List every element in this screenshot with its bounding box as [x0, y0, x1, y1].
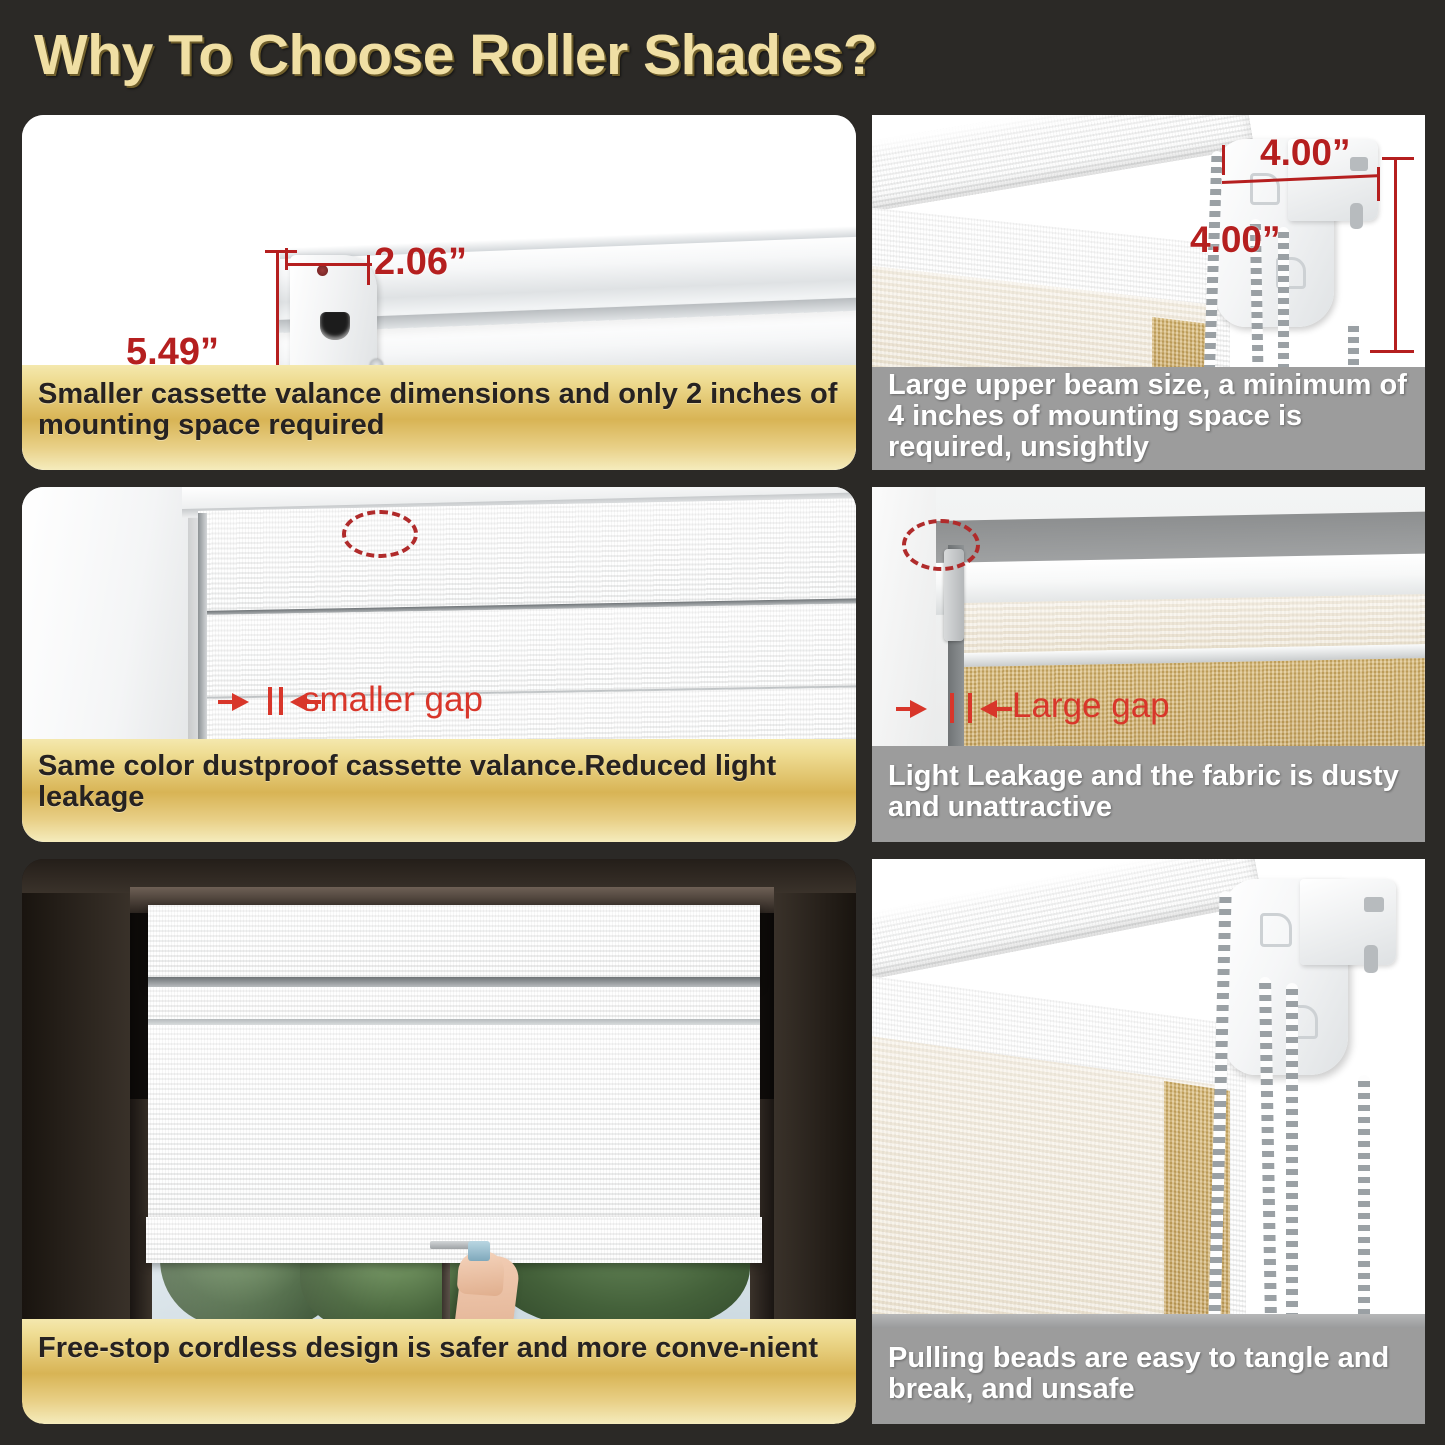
panel-good-cassette-size: 2.06” 5.49” Smaller cassette valance dim… — [22, 115, 856, 470]
fabric-roll-tube — [872, 115, 1254, 212]
width-dim-line — [285, 263, 372, 266]
caption-bad-light-leakage: Light Leakage and the fabric is dusty an… — [872, 746, 1425, 842]
beam-width-tick-left — [1222, 145, 1225, 175]
gap-label-smaller: smaller gap — [302, 680, 483, 720]
shade-left-edge-rail — [198, 513, 207, 759]
panel-bad-pulling-beads: Pulling beads are easy to tangle and bre… — [872, 859, 1425, 1424]
bracket-notch-1-icon — [1350, 157, 1368, 171]
gap-arrow-left-stem — [896, 707, 912, 711]
gap-highlight-ellipse — [902, 519, 980, 571]
wall-left — [22, 859, 134, 1324]
gap-measure-bar-right — [279, 687, 283, 715]
caption-bad-beam-size: Large upper beam size, a minimum of 4 in… — [872, 367, 1425, 470]
beam-height-line — [1394, 157, 1397, 353]
bracket-notch-1-icon — [1364, 897, 1384, 912]
height-dim-tick-top — [265, 250, 297, 253]
beam-width-label: 4.00” — [1260, 132, 1351, 174]
caption-good-dustproof-valance: Same color dustproof cassette valance.Re… — [22, 739, 856, 842]
clutch-bracket-arm — [1300, 879, 1396, 965]
caption-good-cordless-design: Free-stop cordless design is safer and m… — [22, 1319, 856, 1424]
shade-fabric — [148, 1025, 760, 1223]
panel-good-cordless-design: Free-stop cordless design is safer and m… — [22, 859, 856, 1424]
gap-label-large: Large gap — [1012, 686, 1170, 726]
gap-highlight-ellipse-inner — [342, 510, 418, 558]
gap-arrow-left-icon — [910, 700, 927, 718]
cassette-valance-head — [148, 905, 760, 985]
bracket-notch-2-icon — [1350, 203, 1363, 229]
gap-measure-bar-right — [968, 693, 972, 723]
bracket-logo-upper-icon — [1260, 913, 1292, 947]
gap-arrow-left-stem — [218, 700, 234, 704]
shade-bottom-rail — [146, 1217, 762, 1263]
beam-height-tick-bottom — [1370, 350, 1414, 353]
bracket-notch-2-icon — [1364, 945, 1378, 973]
panel-bad-light-leakage: Large gap Light Leakage and the fabric i… — [872, 487, 1425, 842]
panel-good-dustproof-valance: smaller gap Same color dustproof cassett… — [22, 487, 856, 842]
infographic-page: Why To Choose Roller Shades? 2.06” 5.49 — [0, 0, 1445, 1445]
bead-chain-mid-2 — [1286, 983, 1298, 1325]
grip-clip-icon — [468, 1241, 490, 1261]
beam-width-tick-right — [1377, 167, 1380, 201]
beam-height-tick-top — [1382, 157, 1414, 160]
floor-strip — [872, 1314, 1425, 1328]
width-dim-label: 2.06” — [374, 241, 467, 284]
gap-arrow-right-stem — [996, 707, 1012, 711]
gap-arrow-left-icon — [232, 693, 249, 711]
width-dim-tick-right — [367, 255, 370, 285]
panel-bad-beam-size: 4.00” 4.00” Large upper beam size, a min… — [872, 115, 1425, 470]
window-jamb-left — [22, 487, 198, 757]
bead-chain-right — [1358, 1075, 1370, 1325]
bracket-slot-icon — [320, 312, 350, 340]
gap-measure-bar-left — [950, 693, 954, 723]
caption-good-cassette-size: Smaller cassette valance dimensions and … — [22, 365, 856, 470]
gap-measure-bar-left — [268, 687, 272, 715]
bracket-screw-upper-icon — [317, 265, 328, 276]
gap-arrow-right-icon — [980, 700, 997, 718]
beam-height-label: 4.00” — [1190, 219, 1281, 261]
wall-right — [770, 859, 856, 1324]
page-title: Why To Choose Roller Shades? — [34, 22, 877, 88]
caption-bad-pulling-beads: Pulling beads are easy to tangle and bre… — [872, 1328, 1425, 1424]
